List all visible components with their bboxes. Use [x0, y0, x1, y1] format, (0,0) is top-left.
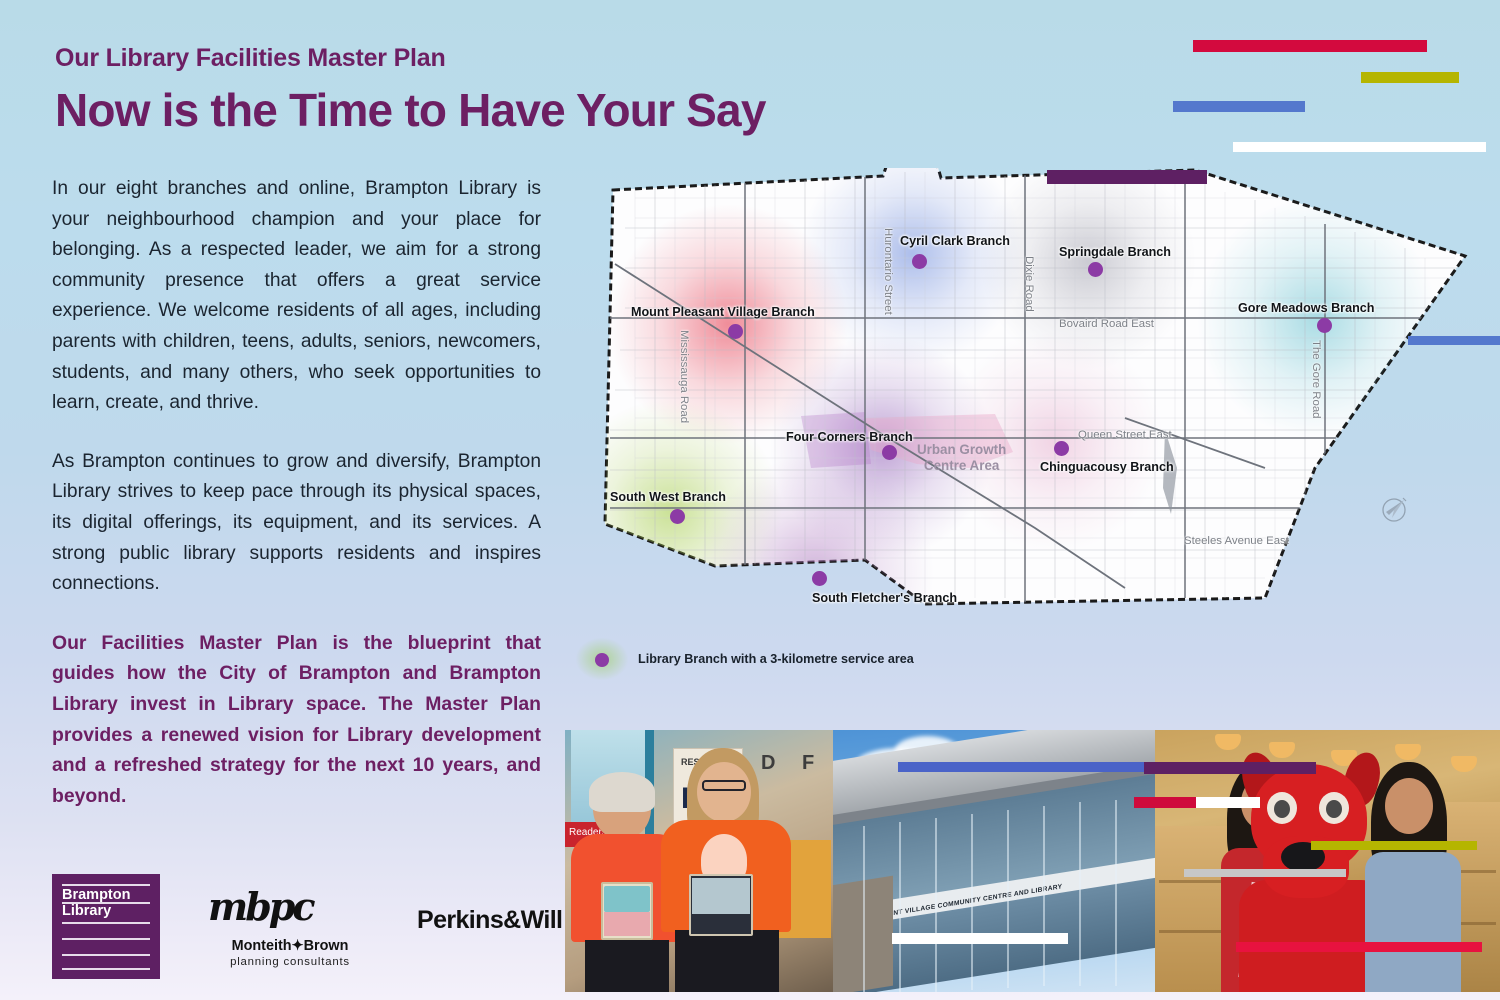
branch-label-four-corners: Four Corners Branch — [786, 430, 913, 444]
street-label-hurontario-street: Hurontario Street — [882, 228, 894, 315]
branch-label-springdale: Springdale Branch — [1059, 245, 1171, 259]
branch-dot-chinguacousy — [1054, 441, 1069, 456]
deco-bar-white-photo-1 — [1196, 797, 1260, 808]
street-label-mississauga-road: Mississauga Road — [678, 330, 690, 423]
paragraph-3-emphasis: Our Facilities Master Plan is the bluepr… — [52, 628, 541, 812]
deco-bar-blue-top — [1173, 101, 1305, 112]
deco-bar-olive-top — [1361, 72, 1459, 83]
deco-bar-purple-photo — [1144, 762, 1316, 774]
deco-bar-red-photo-2 — [1236, 942, 1482, 952]
branch-dot-cyril-clark — [912, 254, 927, 269]
street-label-steeles-avenue-east: Steeles Avenue East — [1184, 535, 1289, 547]
branch-dot-four-corners — [882, 445, 897, 460]
compass-rose-icon — [1378, 494, 1410, 526]
photo-3-mascot-eye — [1267, 792, 1297, 824]
branch-dot-south-west — [670, 509, 685, 524]
legend-label: Library Branch with a 3-kilometre servic… — [638, 652, 914, 666]
deco-bar-white-photo-2 — [892, 933, 1068, 944]
street-label-queen-street-east: Queen Street East — [1078, 429, 1172, 441]
branch-label-south-west: South West Branch — [610, 490, 726, 504]
deco-bar-purple-map — [1047, 170, 1207, 184]
monteith-brown-logo: mbpc Monteith✦Brown planning consultants — [200, 880, 380, 976]
street-label-bovaird-road-east: Bovaird Road East — [1059, 318, 1154, 330]
branch-label-chinguacousy: Chinguacousy Branch — [1040, 460, 1174, 474]
photo-1-staff-right — [661, 750, 791, 992]
branch-dot-springdale — [1088, 262, 1103, 277]
deco-bar-olive-photo — [1311, 841, 1477, 850]
photo-1-letter-f: F — [802, 752, 814, 775]
urban-growth-centre-label: Urban Growth Centre Area — [917, 442, 1006, 474]
kicker-text: Our Library Facilities Master Plan — [55, 44, 446, 73]
photo-library-staff: Readers RESERV K D F — [565, 730, 833, 992]
body-copy: In our eight branches and online, Brampt… — [52, 174, 541, 811]
page-title: Now is the Time to Have Your Say — [55, 83, 766, 137]
paragraph-1: In our eight branches and online, Brampt… — [52, 174, 541, 419]
logo-row: Brampton Library mbpc Monteith✦Brown pla… — [52, 870, 532, 985]
branch-dot-south-fletchers — [812, 571, 827, 586]
monteith-brown-script-mark: mbpc — [208, 884, 313, 929]
perkins-will-logo: Perkins&Will — [417, 906, 562, 935]
branch-label-cyril-clark: Cyril Clark Branch — [900, 234, 1010, 248]
branch-label-south-fletchers: South Fletcher's Branch — [812, 591, 957, 605]
deco-bar-blue-map — [1408, 336, 1500, 345]
brampton-service-area-map: Urban Growth Centre Area — [565, 168, 1500, 628]
street-label-the-gore-road: The Gore Road — [1310, 340, 1322, 419]
legend-branch-dot — [595, 653, 609, 667]
deco-bar-grey-photo — [1184, 869, 1346, 877]
street-label-dixie-road: Dixie Road — [1023, 256, 1035, 312]
deco-bar-red-top — [1193, 40, 1427, 52]
branch-label-gore-meadows: Gore Meadows Branch — [1238, 301, 1374, 315]
deco-bar-red-photo — [1134, 797, 1196, 808]
paragraph-2: As Brampton continues to grow and divers… — [52, 447, 541, 600]
deco-bar-white-top — [1233, 142, 1486, 152]
photo-3-teen-right — [1363, 756, 1463, 992]
branch-label-mount-pleasant-village: Mount Pleasant Village Branch — [631, 305, 815, 319]
map-graphic — [565, 168, 1500, 628]
brampton-library-logo: Brampton Library — [52, 874, 160, 979]
branch-dot-gore-meadows — [1317, 318, 1332, 333]
deco-bar-blue-photo — [898, 762, 1144, 772]
map-legend: Library Branch with a 3-kilometre servic… — [576, 638, 996, 680]
photo-3-mascot-eye — [1319, 792, 1349, 824]
poster-board: Our Library Facilities Master Plan Now i… — [0, 0, 1500, 1000]
branch-dot-mount-pleasant-village — [728, 324, 743, 339]
